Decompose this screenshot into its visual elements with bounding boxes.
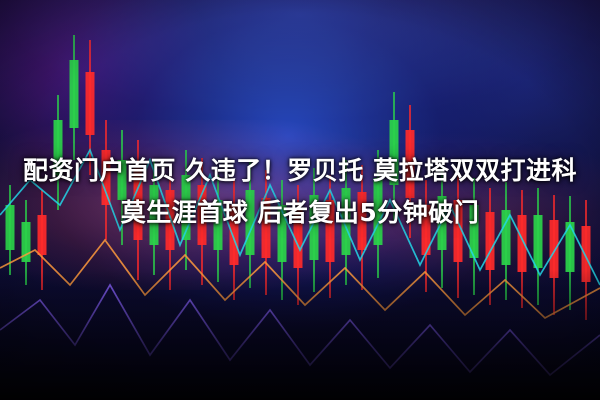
candle-body	[374, 178, 383, 245]
candle-body	[358, 192, 367, 250]
candle-body	[6, 205, 15, 250]
candle-body	[150, 185, 159, 245]
candle-body	[406, 130, 415, 198]
candle-body	[262, 198, 271, 258]
candle-body	[230, 205, 239, 265]
candle-body	[438, 196, 447, 250]
candle-body	[326, 200, 335, 262]
candle-body	[390, 120, 399, 185]
candle-body	[278, 205, 287, 262]
candle-body	[38, 215, 47, 255]
candle-body	[214, 200, 223, 250]
candle-body	[166, 190, 175, 250]
candle-body	[54, 120, 63, 175]
candle-body	[118, 160, 127, 200]
background-bottom-fade	[0, 270, 600, 400]
candle-body	[486, 212, 495, 270]
candle-body	[102, 150, 111, 205]
stock-banner-image: 配资门户首页 久违了！罗贝托 莫拉塔双双打进科 莫生涯首球 后者复出5分钟破门	[0, 0, 600, 400]
candle-body	[534, 215, 543, 268]
candle-body	[70, 60, 79, 128]
candle-body	[86, 72, 95, 135]
